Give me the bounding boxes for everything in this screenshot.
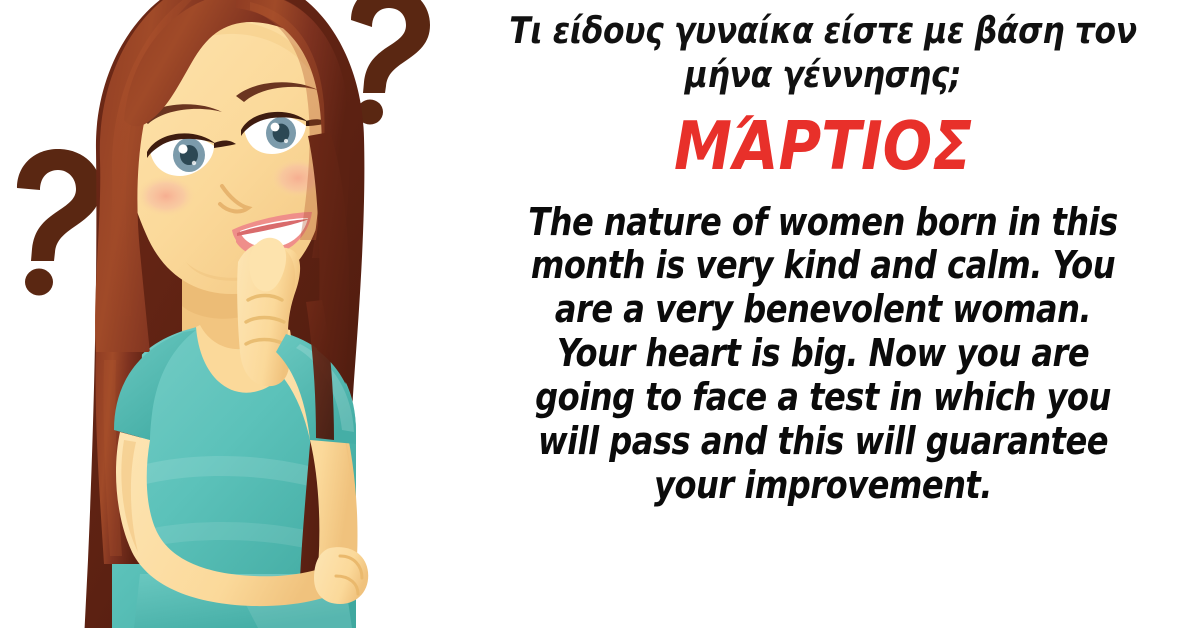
- horoscope-card: Τι είδους γυναίκα είστε με βάση τον μήνα…: [0, 0, 1200, 628]
- question-heading: Τι είδους γυναίκα είστε με βάση τον μήνα…: [506, 9, 1141, 97]
- month-title: ΜΆΡΤΙΟΣ: [502, 113, 1144, 180]
- blush-left: [136, 175, 196, 217]
- hand-crossed: [314, 547, 368, 604]
- thinking-woman-illustration: [0, 0, 448, 628]
- illustration-panel: [0, 0, 448, 628]
- description-body: The nature of women born in this month i…: [511, 201, 1135, 508]
- text-panel: Τι είδους γυναίκα είστε με βάση τον μήνα…: [448, 0, 1200, 628]
